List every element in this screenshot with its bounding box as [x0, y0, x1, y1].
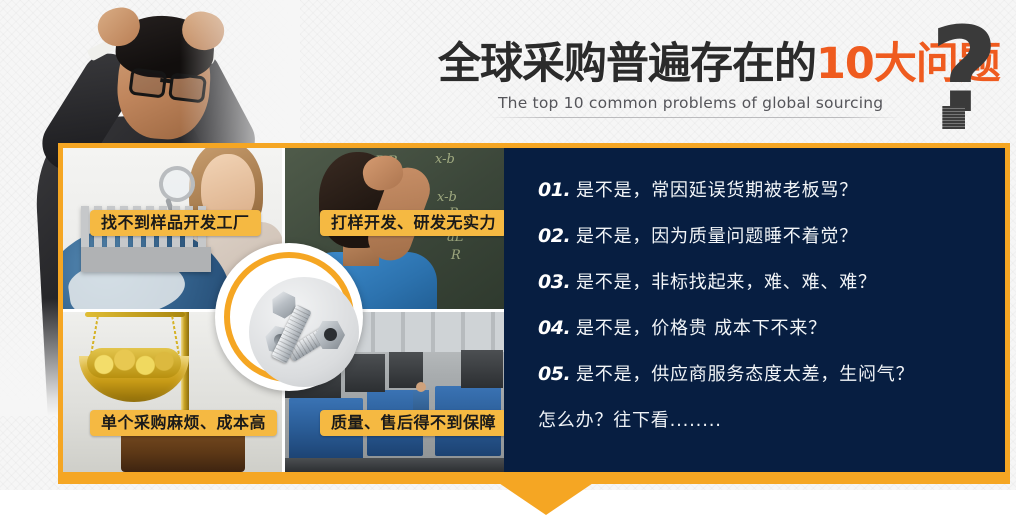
list-item-number: 02.: [538, 225, 576, 247]
main-card: P R x · y PE x-b x-b R M b 2=0 aL R: [58, 143, 1010, 477]
list-item-text: 是不是，非标找起来，难、难、难？: [576, 268, 877, 294]
list-item: 02. 是不是，因为质量问题睡不着觉？: [538, 222, 1005, 248]
title-main-text: 全球采购普遍存在的: [438, 39, 816, 89]
tile3-gold-nuggets: [87, 348, 181, 378]
badge-bolts-photo: [249, 277, 359, 387]
list-footer-text: 怎么办？往下看........: [538, 406, 1005, 432]
caption-pill-purchase-cost: 单个采购麻烦、成本高: [90, 410, 277, 436]
list-item: 04. 是不是，价格贵 成本下不来？: [538, 314, 1005, 340]
tile4-equipment-4: [461, 350, 503, 388]
tile4-floor-rail: [285, 458, 504, 472]
list-item: 03. 是不是，非标找起来，难、难、难？: [538, 268, 1005, 294]
list-item-text: 是不是，供应商服务态度太差，生闷气？: [576, 360, 914, 386]
subtitle-divider: [490, 117, 900, 118]
page-subtitle: The top 10 common problems of global sou…: [498, 94, 883, 112]
background-bottom-strip: [0, 490, 1016, 531]
banner-root: 全球采购普遍存在的10大问题 The top 10 common problem…: [0, 0, 1016, 531]
photo-collage: P R x · y PE x-b x-b R M b 2=0 aL R: [63, 148, 504, 472]
list-item-text: 是不是，常因延误货期被老板骂？: [576, 176, 858, 202]
header: 全球采购普遍存在的10大问题 The top 10 common problem…: [430, 38, 1010, 138]
caption-pill-rnd-capability: 打样开发、研发无实力: [320, 210, 507, 236]
list-item-number: 03.: [538, 271, 576, 293]
page-title: 全球采购普遍存在的10大问题: [438, 38, 1000, 90]
list-item-number: 04.: [538, 317, 576, 339]
tile4-worker-head: [416, 382, 426, 392]
list-item-number: 05.: [538, 363, 576, 385]
list-item-text: 是不是，因为质量问题睡不着觉？: [576, 222, 858, 248]
list-item: 01. 是不是，常因延误货期被老板骂？: [538, 176, 1005, 202]
list-item-text: 是不是，价格贵 成本下不来？: [576, 314, 827, 340]
badge-orange-ring: [224, 252, 354, 382]
bolts-badge: [215, 243, 363, 391]
caption-pill-quality-service: 质量、售后得不到保障: [320, 410, 507, 436]
caption-pill-sample-factory: 找不到样品开发工厂: [90, 210, 261, 236]
tile3-scale-beam: [85, 312, 185, 317]
hex-nut-hole: [324, 328, 337, 341]
question-mark-graphic: ?: [930, 18, 1016, 138]
question-mark-dot: [942, 106, 965, 129]
problem-list-panel: 01. 是不是，常因延误货期被老板骂？ 02. 是不是，因为质量问题睡不着觉？ …: [504, 148, 1005, 472]
list-item-number: 01.: [538, 179, 576, 201]
card-inner: P R x · y PE x-b x-b R M b 2=0 aL R: [63, 148, 1005, 472]
list-item: 05. 是不是，供应商服务态度太差，生闷气？: [538, 360, 1005, 386]
